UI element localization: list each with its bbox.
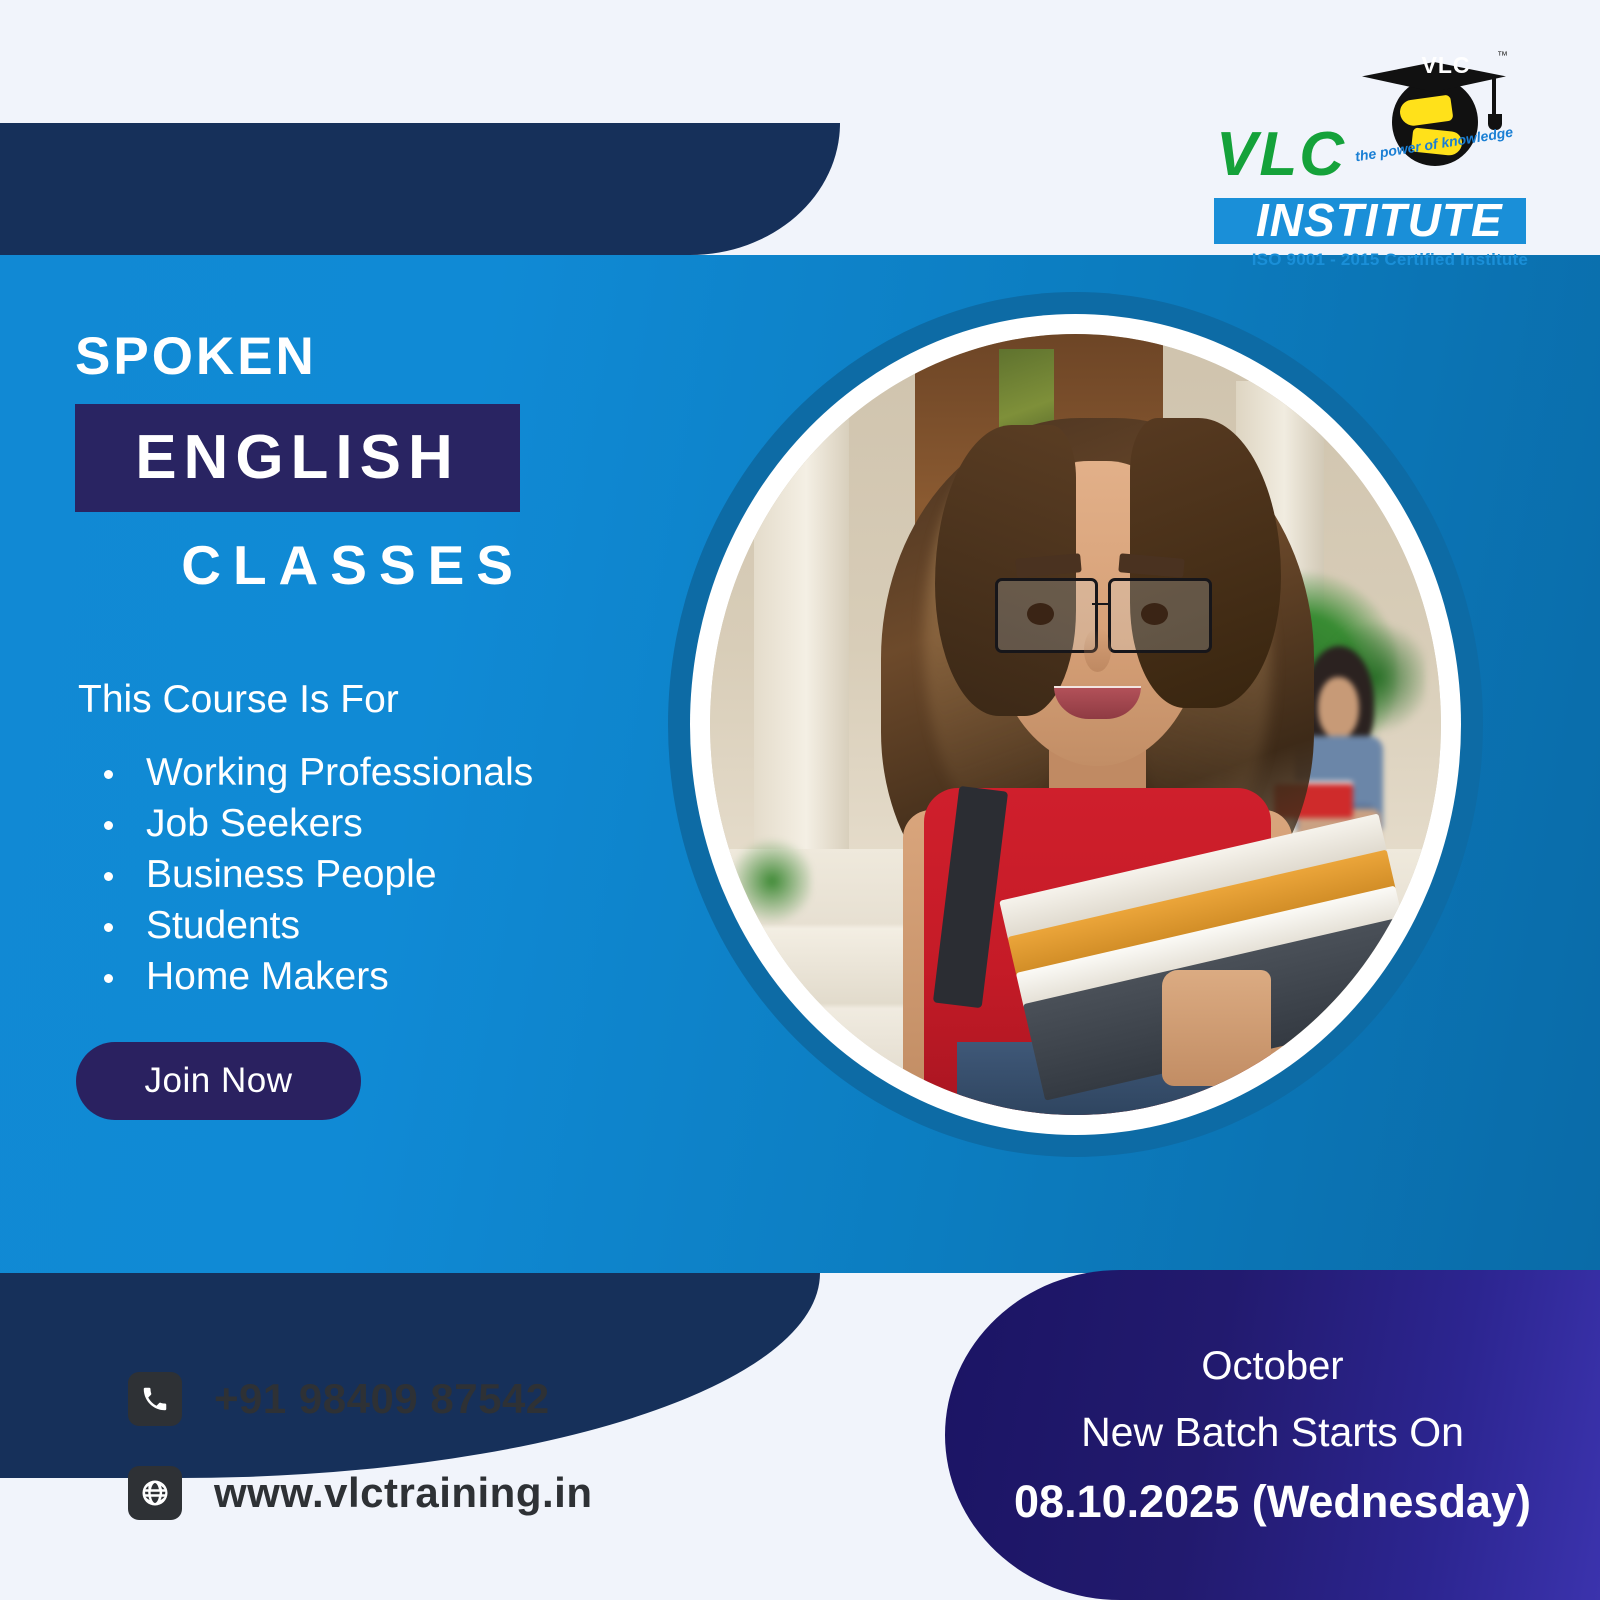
photo-student-glasses-bridge (1092, 603, 1110, 605)
contact-phone-row[interactable]: +91 98409 87542 (128, 1372, 593, 1426)
list-item: Students (78, 900, 533, 951)
vlc-logo: VLC ™ the power of knowledge VLC INSTITU… (1208, 46, 1528, 248)
photo-student-eye-right (1141, 603, 1168, 625)
photo-student-eye-left (1027, 603, 1054, 625)
course-audience-title: This Course Is For (78, 680, 533, 719)
headline-english-block: ENGLISH (75, 404, 520, 512)
logo-vlc-text: VLC (1216, 124, 1346, 186)
photo-main-student (827, 389, 1368, 1115)
photo-image (710, 334, 1441, 1115)
headline-classes: CLASSES (75, 538, 525, 593)
contact-website-row[interactable]: www.vlctraining.in (128, 1466, 593, 1520)
batch-date: 08.10.2025 (Wednesday) (1014, 1479, 1531, 1524)
list-item: Home Makers (78, 951, 533, 1002)
student-photo (668, 292, 1483, 1157)
logo-iso-text: ISO 9001 - 2015 Certified Institute (1252, 250, 1528, 270)
course-audience-list: Working Professionals Job Seekers Busine… (78, 747, 533, 1002)
emblem-tagline-text: the power of knowledge (1348, 123, 1520, 166)
phone-number: +91 98409 87542 (214, 1375, 550, 1423)
course-audience-group: This Course Is For Working Professionals… (78, 680, 533, 1002)
photo-student-hand (1162, 970, 1270, 1086)
phone-icon (128, 1372, 182, 1426)
emblem-tagline: the power of knowledge (1348, 110, 1520, 180)
contact-group: +91 98409 87542 www.vlctraining.in (128, 1372, 593, 1560)
website-url: www.vlctraining.in (214, 1469, 593, 1517)
poster-canvas: SPOKEN ENGLISH CLASSES This Course Is Fo… (0, 0, 1600, 1600)
headline-english: ENGLISH (75, 404, 520, 512)
photo-plant-left (732, 834, 812, 928)
batch-info-panel: October New Batch Starts On 08.10.2025 (… (945, 1270, 1600, 1600)
top-navy-band (0, 123, 840, 255)
photo-student-nose (1084, 628, 1111, 672)
globe-icon (128, 1466, 182, 1520)
trademark-symbol: ™ (1497, 50, 1508, 62)
list-item: Business People (78, 849, 533, 900)
headline-spoken: SPOKEN (75, 330, 675, 383)
join-now-button[interactable]: Join Now (76, 1042, 361, 1120)
logo-institute-text: INSTITUTE (1256, 196, 1503, 244)
batch-label: New Batch Starts On (1081, 1412, 1464, 1453)
list-item: Working Professionals (78, 747, 533, 798)
list-item: Job Seekers (78, 798, 533, 849)
emblem-vlc-text: VLC (1406, 52, 1486, 79)
graduation-cap-icon: VLC ™ the power of knowledge (1360, 46, 1508, 186)
batch-month: October (1201, 1346, 1343, 1386)
headline-group: SPOKEN ENGLISH CLASSES (75, 330, 675, 593)
